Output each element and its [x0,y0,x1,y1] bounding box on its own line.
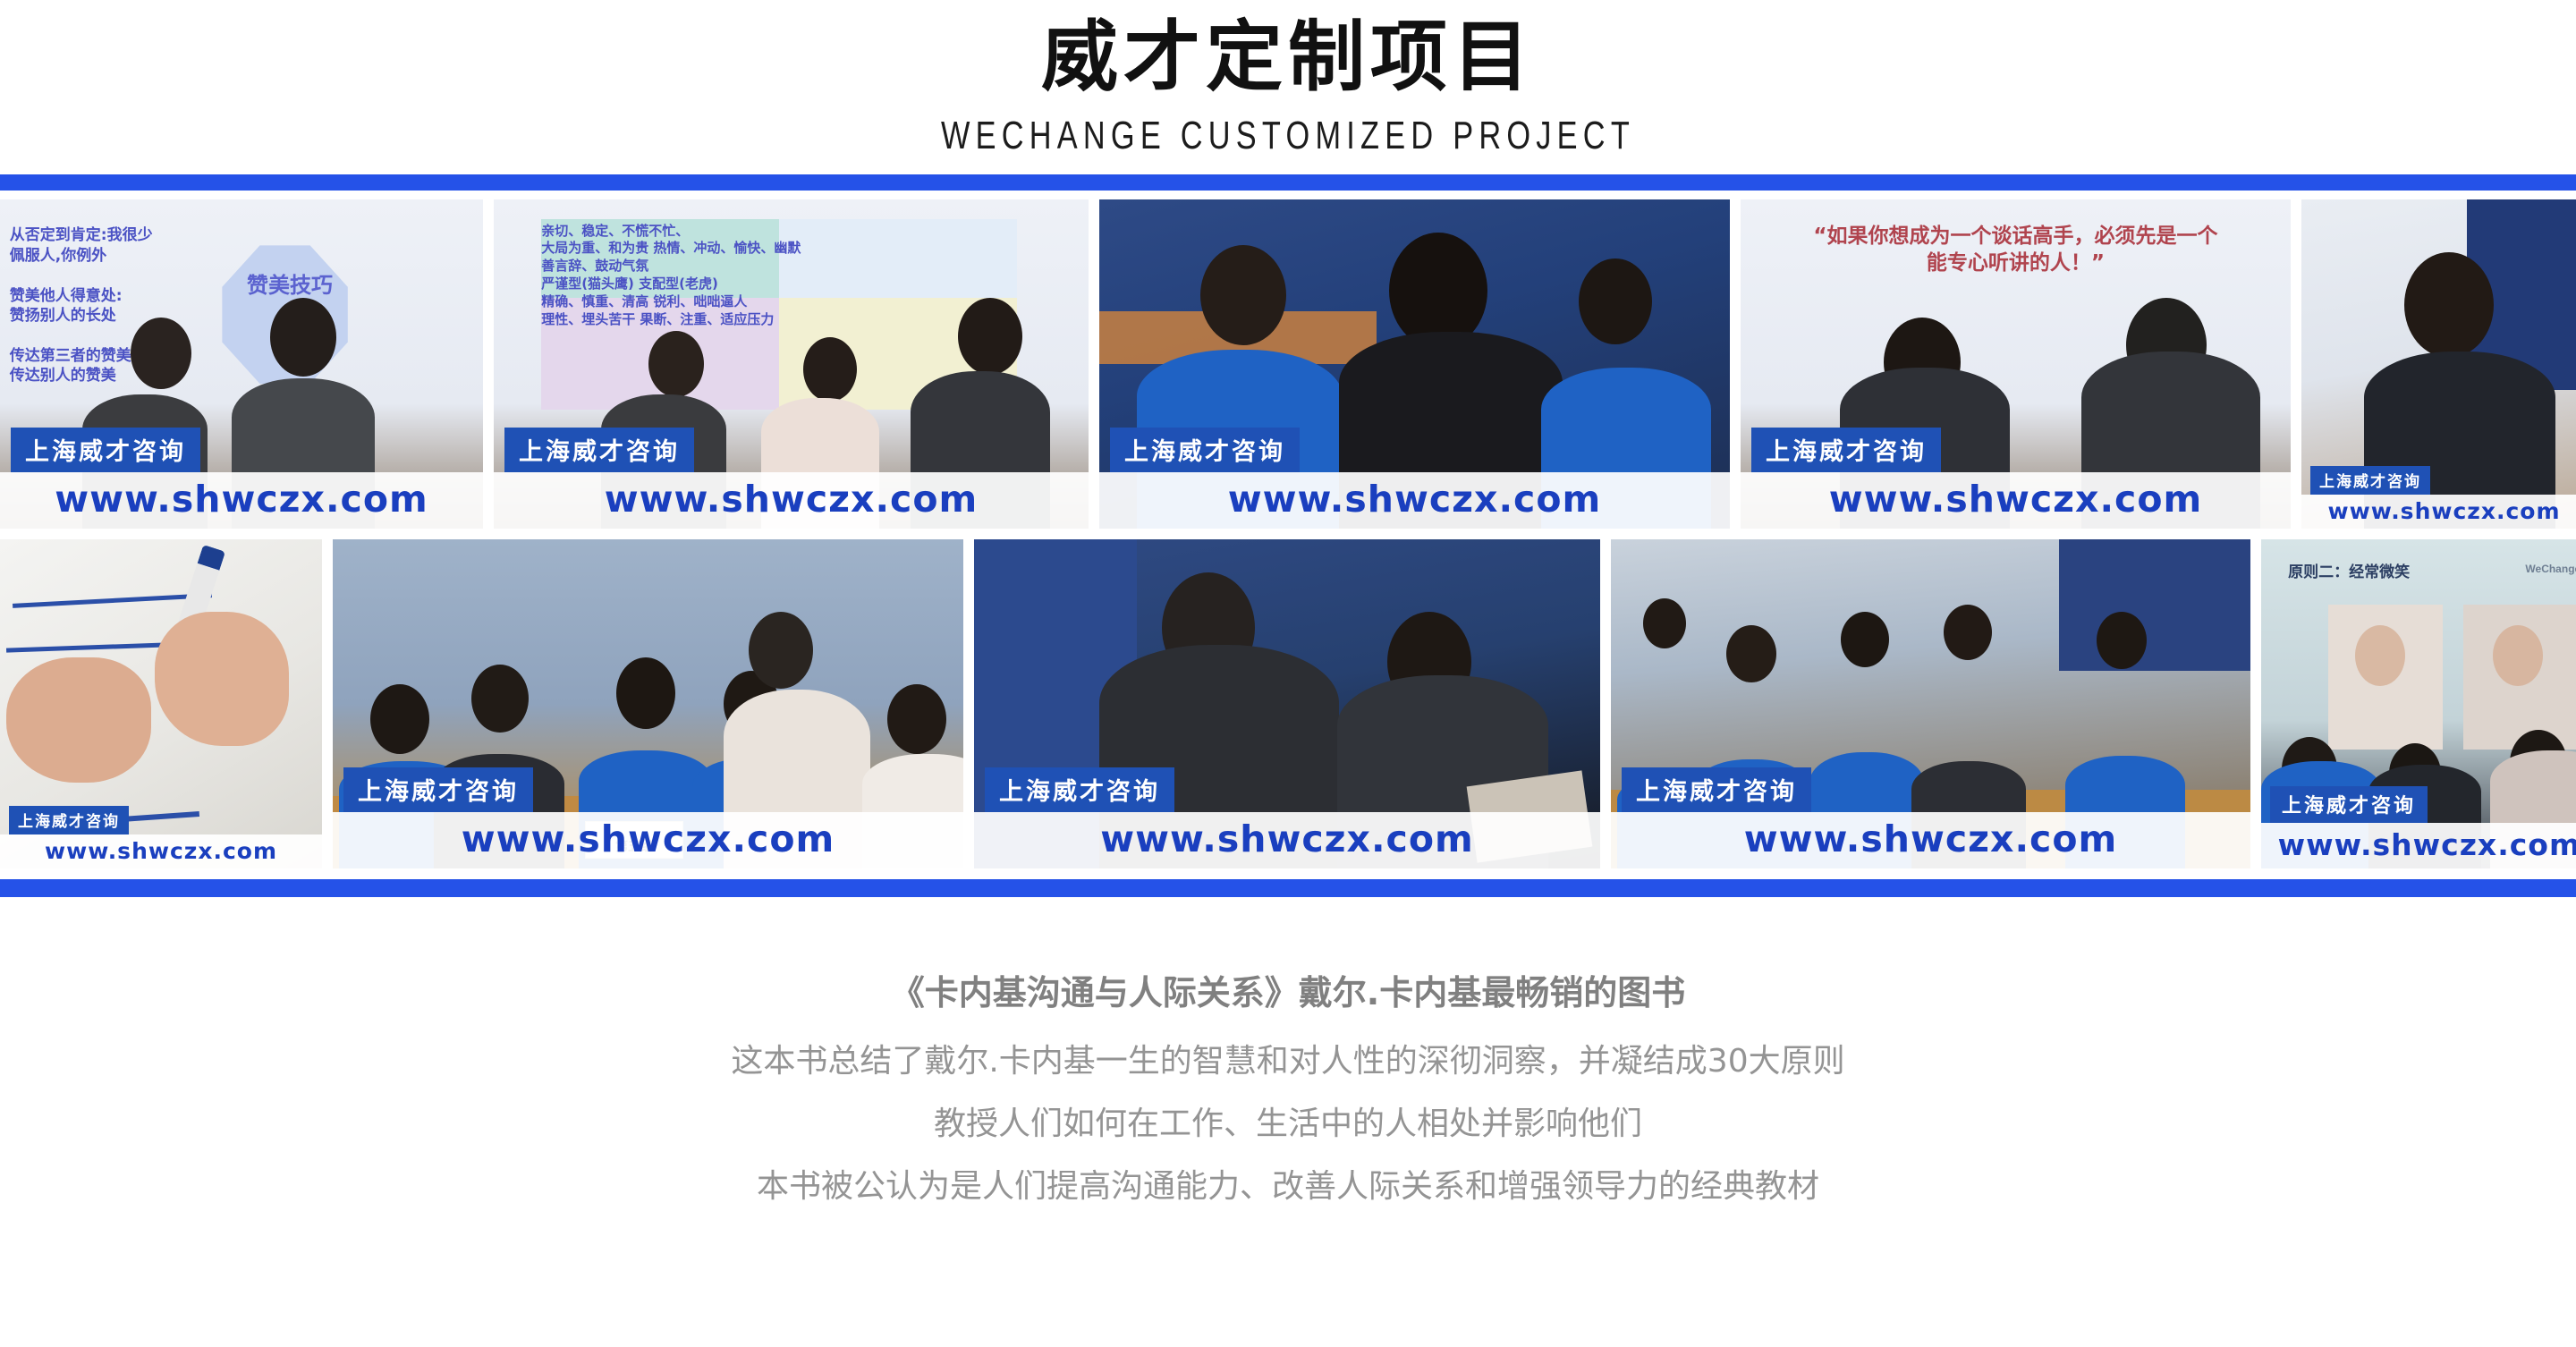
watermark-url: www.shwczx.com [974,812,1600,868]
watermark-url: www.shwczx.com [1741,472,2291,529]
watermark: 上海威才咨询 www.shwczx.com [1741,428,2291,529]
person-head [1944,605,1992,660]
photo-student-speaking[interactable]: 上海威才咨询 www.shwczx.com [2301,199,2576,529]
watermark-url: www.shwczx.com [2261,823,2576,868]
person-head [1643,598,1686,648]
photo-row-top: 从否定到肯定:我很少 佩服人,你例外 赞美他人得意处: 赞扬别人的长处 传达第三… [0,199,2576,529]
watermark: 上海威才咨询 www.shwczx.com [0,806,322,868]
person-head [749,612,813,689]
watermark-brand: 上海威才咨询 [1751,428,1941,472]
photo-flipchart-writing[interactable]: 上海威才咨询 www.shwczx.com [0,539,322,868]
wechange-logo: WeChange [2525,563,2576,575]
person-head [2404,252,2494,358]
watermark-brand: 上海威才咨询 [343,767,533,812]
watermark: 上海威才咨询 www.shwczx.com [1611,767,2250,868]
photo-row-bottom: 上海威才咨询 www.shwczx.com 第五组 [0,539,2576,868]
person-head [1841,612,1889,667]
photo-one-on-one-coaching[interactable]: 上海威才咨询 www.shwczx.com [974,539,1600,868]
photo-students-listening[interactable]: 上海威才咨询 www.shwczx.com [1099,199,1730,529]
slide-text-principle: 原则二：经常微笑 [2288,563,2410,582]
watermark-url: www.shwczx.com [0,834,322,868]
watermark: 上海威才咨询 www.shwczx.com [333,767,963,868]
divider-bottom [0,879,2576,897]
watermark-brand: 上海威才咨询 [985,767,1174,812]
photo-smile-principle-slide[interactable]: 原则二：经常微笑 WeChange 上海威才咨询 www.shwczx.com [2261,539,2576,868]
photo-conversation-expert-quote[interactable]: “如果你想成为一个谈话高手，必须先是一个 能专心听讲的人！” 上海威才咨询 ww… [1741,199,2291,529]
person-head [803,337,857,402]
caption-block: 《卡内基沟通与人际关系》戴尔.卡内基最畅销的图书 这本书总结了戴尔.卡内基一生的… [0,976,2576,1203]
background-panel [2059,539,2251,671]
watermark-brand: 上海威才咨询 [1110,428,1300,472]
divider-top [0,174,2576,191]
slide-face [2355,625,2405,686]
slide-text-quote: “如果你想成为一个谈话高手，必须先是一个 能专心听讲的人！” [1763,223,2269,277]
photo-classroom-audience[interactable]: 上海威才咨询 www.shwczx.com [1611,539,2250,868]
slide-center-label: 赞美技巧 [241,272,338,301]
person-head [2097,612,2147,669]
person-head [370,684,429,754]
hand [155,612,289,746]
caption-line-title: 《卡内基沟通与人际关系》戴尔.卡内基最畅销的图书 [0,976,2576,1010]
watermark-url: www.shwczx.com [0,472,483,529]
slide-text-quadrants: 亲切、稳定、不慌不忙、 大局为重、和为贵 热情、冲动、愉快、幽默 善言辞、鼓动气… [541,223,1017,329]
photo-gallery: 从否定到肯定:我很少 佩服人,你例外 赞美他人得意处: 赞扬别人的长处 传达第三… [0,199,2576,868]
person-head [648,331,704,397]
watermark-url: www.shwczx.com [494,472,1089,529]
watermark: 上海威才咨询 www.shwczx.com [2301,466,2576,529]
page-subtitle: WECHANGE CUSTOMIZED PROJECT [284,114,2292,158]
photo-praise-technique-interview[interactable]: 从否定到肯定:我很少 佩服人,你例外 赞美他人得意处: 赞扬别人的长处 传达第三… [0,199,483,529]
caption-line-teach: 教授人们如何在工作、生活中的人相处并影响他们 [0,1108,2576,1140]
watermark-url: www.shwczx.com [2301,495,2576,529]
caption-line-classic: 本书被公认为是人们提高沟通能力、改善人际关系和增强领导力的经典教材 [0,1171,2576,1203]
watermark: 上海威才咨询 www.shwczx.com [0,428,483,529]
watermark-url: www.shwczx.com [1099,472,1730,529]
watermark: 上海威才咨询 www.shwczx.com [974,767,1600,868]
person-head [471,665,529,733]
person-head [958,298,1022,375]
person-head [131,318,191,389]
watermark: 上海威才咨询 www.shwczx.com [494,428,1089,529]
photo-group-discussion-coaching[interactable]: 第五组 上海威才咨询 www.shwczx.com [333,539,963,868]
slide-face [2493,625,2543,686]
watermark-brand: 上海威才咨询 [2270,786,2428,823]
person-head [1726,625,1776,682]
watermark-brand: 上海威才咨询 [2310,466,2430,495]
person-head [1579,258,1652,344]
person-head [887,684,946,754]
caption-line-summary: 这本书总结了戴尔.卡内基一生的智慧和对人性的深彻洞察，并凝结成30大原则 [0,1046,2576,1078]
watermark-brand: 上海威才咨询 [504,428,694,472]
person-head [1200,245,1286,345]
page-title: 威才定制项目 [0,16,2576,99]
page-header: 威才定制项目 WECHANGE CUSTOMIZED PROJECT [0,0,2576,158]
watermark-brand: 上海威才咨询 [1622,767,1811,812]
photo-disc-personality-quadrant[interactable]: 亲切、稳定、不慌不忙、 大局为重、和为贵 热情、冲动、愉快、幽默 善言辞、鼓动气… [494,199,1089,529]
watermark-brand: 上海威才咨询 [9,806,129,834]
watermark-url: www.shwczx.com [1611,812,2250,868]
watermark-url: www.shwczx.com [333,812,963,868]
watermark-brand: 上海威才咨询 [11,428,200,472]
hand [6,657,151,783]
watermark: 上海威才咨询 www.shwczx.com [1099,428,1730,529]
watermark: 上海威才咨询 www.shwczx.com [2261,786,2576,868]
